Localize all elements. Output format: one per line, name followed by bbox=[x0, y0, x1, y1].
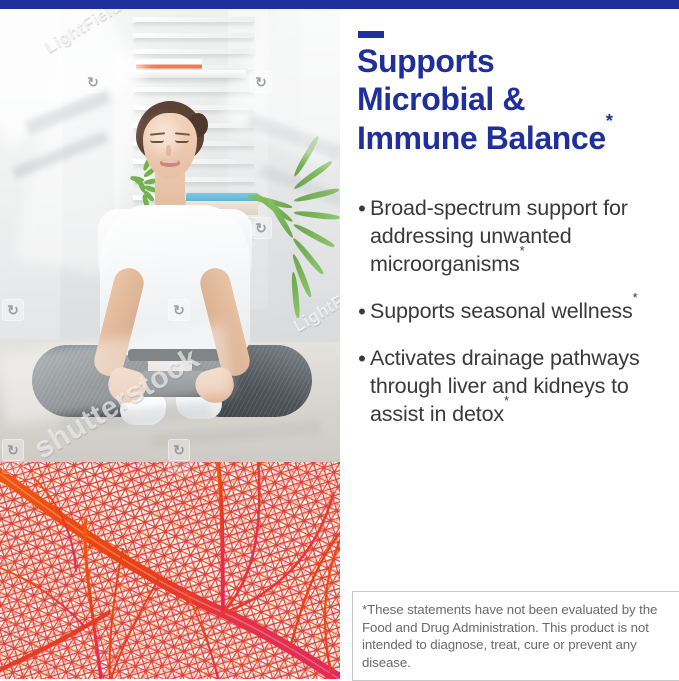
bullet-asterisk: * bbox=[520, 243, 525, 258]
benefits-list: • Broad-spectrum support for addressing … bbox=[354, 195, 676, 448]
face-highlight bbox=[149, 119, 179, 153]
meditation-photo: shutterstock LightField LightFiel ↻ ↻ ↻ … bbox=[0, 9, 340, 462]
bullet-marker-icon: • bbox=[354, 298, 370, 326]
bullet-marker-icon: • bbox=[354, 345, 370, 429]
watermark-badge-icon: ↻ bbox=[82, 71, 104, 93]
top-accent-bar bbox=[0, 0, 679, 9]
bullet-text: Broad-spectrum support for addressing un… bbox=[370, 195, 676, 279]
watermark-badge-icon: ↻ bbox=[250, 71, 272, 93]
eye-right-closed bbox=[175, 140, 189, 143]
left-media-column: shutterstock LightField LightFiel ↻ ↻ ↻ … bbox=[0, 9, 340, 679]
bullet-asterisk: * bbox=[633, 290, 638, 305]
watermark-badge-icon: ↻ bbox=[250, 217, 272, 239]
leaf-venation bbox=[0, 462, 340, 679]
watermark-badge-icon: ↻ bbox=[2, 439, 24, 461]
leaf-vein-photo: ↻ ↻ bbox=[0, 462, 340, 679]
right-content-column: Supports Microbial & Immune Balance* • B… bbox=[340, 9, 679, 679]
watermark-badge-icon: ↻ bbox=[168, 299, 190, 321]
list-item: • Supports seasonal wellness* bbox=[354, 298, 676, 326]
headline-line-2: Microbial & bbox=[357, 80, 675, 118]
headline-line-1: Supports bbox=[357, 42, 675, 80]
fda-disclaimer: *These statements have not been evaluate… bbox=[352, 591, 679, 681]
bullet-marker-icon: • bbox=[354, 195, 370, 279]
product-infographic: shutterstock LightField LightFiel ↻ ↻ ↻ … bbox=[0, 0, 679, 679]
bullet-asterisk: * bbox=[504, 393, 509, 408]
mouth-highlight bbox=[162, 160, 178, 163]
watermark-badge-icon: ↻ bbox=[168, 462, 190, 474]
accent-dash-icon bbox=[358, 31, 384, 38]
eye-left-closed bbox=[150, 140, 164, 143]
headline-asterisk: * bbox=[606, 110, 613, 131]
nose bbox=[166, 145, 171, 156]
headline-line-3: Immune Balance* bbox=[357, 119, 675, 157]
list-item: • Activates drainage pathways through li… bbox=[354, 345, 676, 429]
watermark-badge-icon: ↻ bbox=[2, 299, 24, 321]
page-title: Supports Microbial & Immune Balance* bbox=[357, 42, 675, 157]
watermark-badge-icon: ↻ bbox=[2, 462, 24, 474]
list-item: • Broad-spectrum support for addressing … bbox=[354, 195, 676, 279]
watermark-badge-icon: ↻ bbox=[168, 439, 190, 461]
bullet-text: Supports seasonal wellness* bbox=[370, 298, 638, 326]
bullet-text: Activates drainage pathways through live… bbox=[370, 345, 676, 429]
